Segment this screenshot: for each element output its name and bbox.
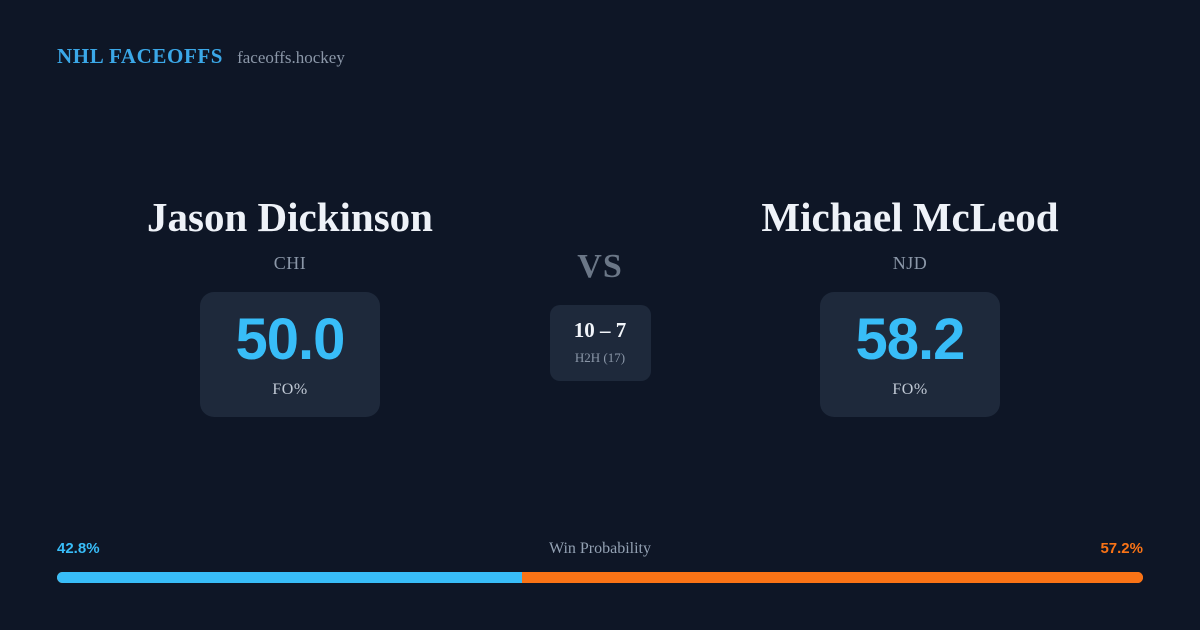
site-header: NHL FACEOFFS faceoffs.hockey [57, 44, 345, 69]
player-left-name: Jason Dickinson [147, 195, 433, 240]
player-right: Michael McLeod NJD 58.2 FO% [700, 195, 1120, 417]
player-right-stat-card: 58.2 FO% [820, 292, 1000, 417]
win-probability-right-percent: 57.2% [1100, 540, 1143, 557]
player-left-stat-card: 50.0 FO% [200, 292, 380, 417]
versus-block: VS 10 – 7 H2H (17) [500, 195, 700, 381]
win-probability-bar [57, 572, 1143, 583]
win-probability-title: Win Probability [57, 540, 1143, 558]
player-left: Jason Dickinson CHI 50.0 FO% [80, 195, 500, 417]
site-domain: faceoffs.hockey [237, 48, 345, 68]
player-left-team: CHI [274, 253, 307, 274]
head-to-head-label: H2H (17) [575, 350, 625, 366]
versus-label: VS [577, 250, 622, 284]
player-right-team: NJD [893, 253, 928, 274]
player-left-faceoff-value: 50.0 [236, 311, 345, 369]
player-right-name: Michael McLeod [761, 195, 1058, 240]
player-left-faceoff-label: FO% [272, 381, 307, 399]
win-probability-labels: 42.8% Win Probability 57.2% [57, 540, 1143, 562]
win-probability-section: 42.8% Win Probability 57.2% [57, 540, 1143, 583]
matchup-section: Jason Dickinson CHI 50.0 FO% VS 10 – 7 H… [0, 195, 1200, 417]
head-to-head-score: 10 – 7 [574, 320, 627, 341]
head-to-head-card: 10 – 7 H2H (17) [550, 305, 651, 381]
win-probability-bar-right-segment [522, 572, 1143, 583]
player-right-faceoff-value: 58.2 [856, 311, 965, 369]
win-probability-bar-left-segment [57, 572, 522, 583]
player-right-faceoff-label: FO% [892, 381, 927, 399]
brand-title: NHL FACEOFFS [57, 44, 223, 69]
